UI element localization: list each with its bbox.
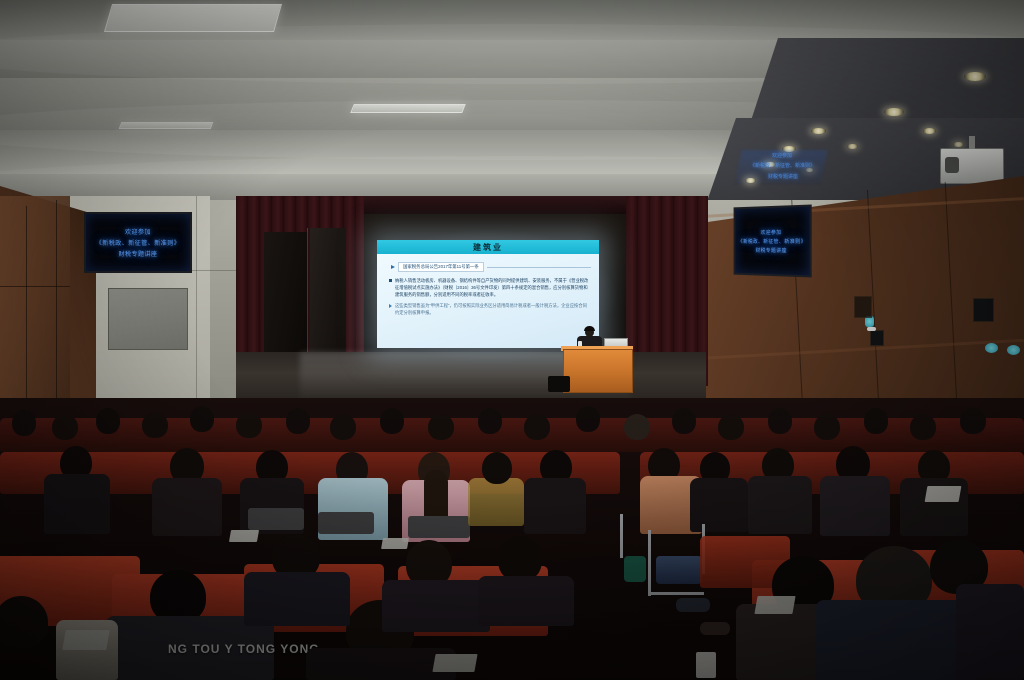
audience-head — [814, 414, 840, 440]
bullet-triangle-icon — [389, 304, 392, 308]
slide-bullet-text: 纳税人销售活动板房、机器设备、钢结构件等自产货物的同时提供建筑、安装服务，不属于… — [395, 277, 591, 298]
wall-sign-label — [867, 327, 876, 331]
slide-rule — [487, 267, 591, 268]
audience-head — [768, 408, 792, 434]
wall-seam — [196, 196, 197, 421]
bullet-square-icon — [389, 279, 392, 282]
reflection-line-1: 欢迎参加 — [772, 152, 792, 159]
led-line-1: 欢迎参加 — [761, 228, 782, 235]
wall-speaker-box — [854, 296, 872, 318]
audience-body-near — [956, 584, 1024, 680]
slide-bullet: 纳税人销售活动板房、机器设备、钢结构件等自产货物的同时提供建筑、安装服务，不属于… — [389, 277, 591, 298]
audience-head — [286, 408, 310, 434]
audience-head — [478, 408, 502, 434]
seat-back — [408, 516, 470, 538]
downlight-icon — [923, 128, 936, 134]
downlight-icon — [884, 108, 904, 116]
handout-paper — [62, 630, 110, 650]
audience-head — [236, 412, 262, 438]
slide-subheading: 国家税务总局公告2017年第11号第一条 — [398, 262, 484, 272]
led-monitor-left: 欢迎参加 《新税政、新征管、新准则》 财税专题讲座 — [84, 212, 192, 273]
handout-paper — [381, 538, 409, 549]
podium-shadow — [548, 376, 570, 392]
audience-head — [864, 408, 888, 434]
projector-lens-icon — [945, 157, 959, 173]
downlight-icon — [847, 144, 858, 149]
led-line-3: 财税专题讲座 — [118, 249, 157, 258]
handout-paper — [754, 596, 795, 614]
wood-seam — [56, 200, 57, 415]
audience-body — [690, 478, 748, 532]
reflection-line-3: 财税专题讲座 — [768, 173, 798, 180]
ceiling-projector — [940, 148, 1004, 184]
audience-head — [960, 408, 986, 434]
arrow-icon — [391, 265, 395, 269]
ceiling-light-strip-3 — [119, 122, 214, 129]
audience-head — [428, 414, 454, 440]
audience-head — [672, 408, 696, 434]
audience-head — [52, 414, 78, 440]
wall-outlet-box — [973, 298, 994, 322]
audience-head — [330, 414, 356, 440]
slide-bullet-text: 这些类型销售虽为“甲供工程”，仍可按照实际业务区分适用简易计税或者一般计税方法，… — [395, 302, 591, 316]
seat-back — [318, 512, 374, 534]
shoe — [676, 598, 710, 612]
chair-leg — [620, 514, 623, 558]
audience-head — [482, 452, 512, 484]
audience-head-near — [0, 596, 48, 648]
slide-body: 国家税务总局公告2017年第11号第一条 纳税人销售活动板房、机器设备、钢结构件… — [377, 254, 599, 325]
wood-seam — [26, 206, 27, 411]
audience-head — [524, 414, 550, 440]
led-line-2: 《新税政、新征管、新准则》 — [96, 238, 181, 247]
podium — [563, 349, 633, 393]
audience-body — [44, 474, 110, 534]
handout-paper — [432, 654, 477, 672]
slide-title: 建筑业 — [377, 240, 599, 254]
led-line-3: 财税专题讲座 — [756, 246, 787, 253]
audience-body-near — [382, 580, 490, 632]
jacket-text: NG TOU Y TONG YONG — [168, 642, 320, 656]
downlight-icon — [811, 128, 826, 134]
paper-cup — [696, 652, 716, 678]
bag — [624, 556, 646, 582]
seat-back — [248, 508, 304, 530]
audience-head — [142, 412, 168, 438]
chair-leg — [648, 530, 651, 596]
audience-body — [524, 478, 586, 534]
handout-paper — [229, 530, 259, 542]
audience-head — [624, 414, 650, 440]
downlight-icon — [953, 142, 964, 147]
audience-body — [820, 476, 890, 536]
acoustic-panel-left — [108, 288, 188, 350]
audience-body — [748, 476, 812, 534]
led-line-2: 《新税政、新征管、新准则》 — [738, 237, 806, 244]
audience-body-near — [244, 572, 350, 626]
shoe — [700, 622, 730, 635]
slide-bullet: 这些类型销售虽为“甲供工程”，仍可按照实际业务区分适用简易计税或者一般计税方法，… — [389, 302, 591, 316]
downlight-icon — [964, 72, 986, 81]
chair-leg-rail — [648, 592, 704, 595]
audience-head — [910, 414, 936, 440]
reflection-line-2: 《新税政、新征管、新准则》 — [750, 162, 815, 169]
ceiling-light-strip-1 — [350, 104, 466, 113]
audience-head — [576, 406, 600, 432]
audience-body-near-light — [56, 620, 118, 680]
audience-head — [380, 408, 404, 434]
speaker-hair — [584, 326, 595, 331]
led-monitor-right: 欢迎参加 《新税政、新征管、新准则》 财税专题讲座 — [734, 204, 812, 277]
audience-head — [718, 414, 744, 440]
audience-head — [190, 406, 214, 432]
wall-sign-icon — [985, 343, 998, 353]
projection-screen: 建筑业 国家税务总局公告2017年第11号第一条 纳税人销售活动板房、机器设备、… — [377, 240, 599, 348]
wood-column-left — [0, 196, 70, 418]
slide-subheading-row: 国家税务总局公告2017年第11号第一条 — [391, 262, 591, 272]
ceiling-light-panel — [104, 4, 282, 32]
audience-body-near — [478, 576, 574, 626]
auditorium-photo: 欢迎参加 《新税政、新征管、新准则》 财税专题讲座 欢迎参加 《新税政、新征管、… — [0, 0, 1024, 680]
handout-paper — [925, 486, 962, 502]
audience-body-tan — [468, 478, 524, 526]
audience-head — [96, 408, 120, 434]
wall-outlet-box — [870, 330, 884, 346]
bag — [656, 556, 702, 584]
wall-sign-icon — [1007, 345, 1020, 355]
wood-seam — [0, 286, 70, 287]
audience-body — [152, 478, 222, 536]
led-line-1: 欢迎参加 — [125, 227, 151, 236]
audience-head — [12, 410, 36, 436]
